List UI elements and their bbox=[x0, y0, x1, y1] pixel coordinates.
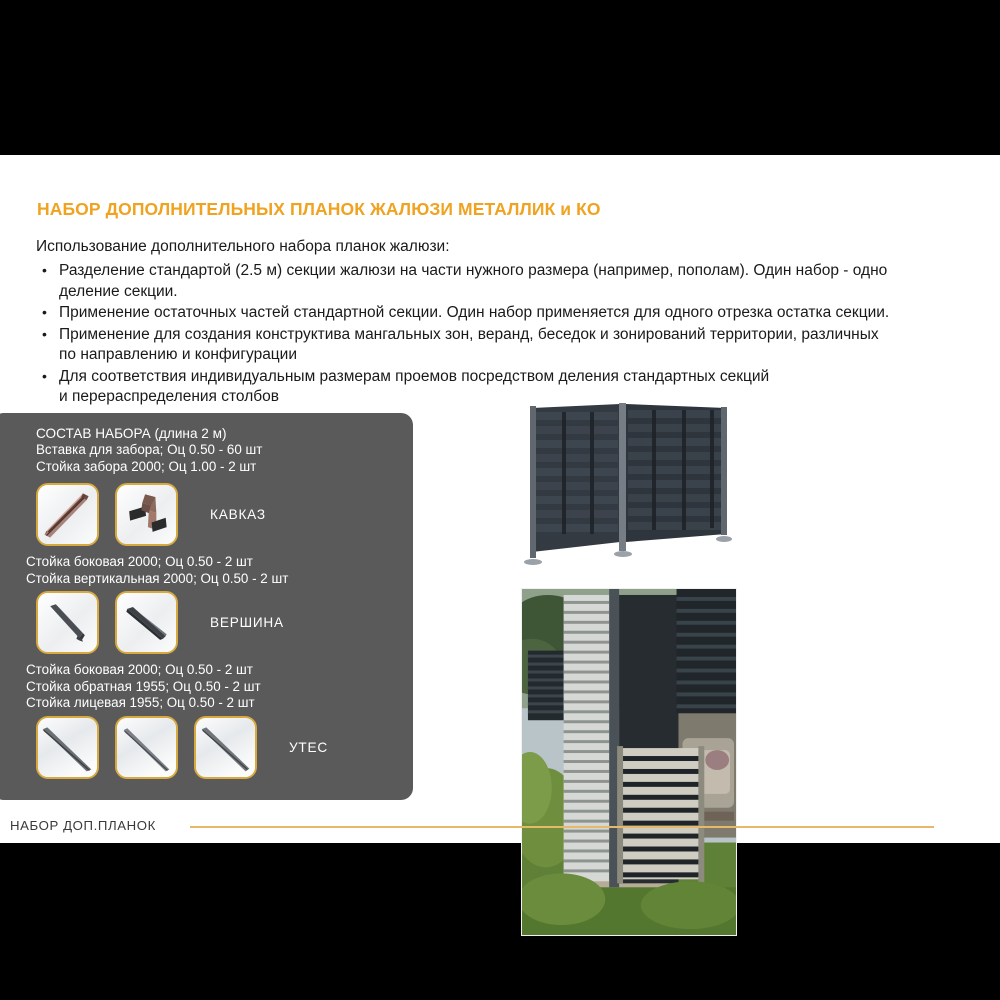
product-thumb-kavkaz-bracket-icon[interactable] bbox=[115, 483, 178, 546]
product-thumb-vershina-blade-icon[interactable] bbox=[115, 591, 178, 654]
group-label-utes: УТЕС bbox=[289, 740, 328, 755]
bullet-line-2: по направлению и конфигурации bbox=[59, 345, 971, 366]
list-item: Применение для создания конструктива ман… bbox=[36, 325, 971, 366]
product-thumb-kavkaz-bar-icon[interactable] bbox=[36, 483, 99, 546]
list-item: Применение остаточных частей стандартной… bbox=[36, 303, 971, 324]
spec-line: Стойка боковая 2000; Оц 0.50 - 2 шт bbox=[26, 554, 406, 571]
letterbox-top-bar bbox=[0, 0, 1000, 155]
spec-heading-block: СОСТАВ НАБОРА (длина 2 м) Вставка для за… bbox=[36, 425, 406, 475]
letterbox-bottom-bar bbox=[0, 843, 1000, 1000]
spec-heading-line: Стойка забора 2000; Оц 1.00 - 2 шт bbox=[36, 459, 406, 476]
bullet-line-1: Для соответствия индивидуальным размерам… bbox=[59, 368, 769, 385]
thumb-row-vershina: ВЕРШИНА bbox=[36, 591, 284, 654]
spec-lines-vershina: Стойка боковая 2000; Оц 0.50 - 2 шт Стой… bbox=[26, 662, 406, 712]
group-label-kavkaz: КАВКАЗ bbox=[210, 507, 266, 522]
product-thumb-vershina-post-icon[interactable] bbox=[36, 591, 99, 654]
bullet-line-1: Разделение стандартой (2.5 м) секции жал… bbox=[59, 262, 887, 279]
product-thumb-utes-3-icon[interactable] bbox=[194, 716, 257, 779]
intro-text: Использование дополнительного набора пла… bbox=[36, 238, 450, 256]
list-item: Для соответствия индивидуальным размерам… bbox=[36, 367, 971, 408]
spec-lines-kavkaz: Стойка боковая 2000; Оц 0.50 - 2 шт Стой… bbox=[26, 554, 406, 587]
product-thumb-utes-2-icon[interactable] bbox=[115, 716, 178, 779]
thumb-row-utes: УТЕС bbox=[36, 716, 328, 779]
spec-heading: СОСТАВ НАБОРА (длина 2 м) bbox=[36, 425, 406, 442]
list-item: Разделение стандартой (2.5 м) секции жал… bbox=[36, 261, 971, 302]
bullet-list: Разделение стандартой (2.5 м) секции жал… bbox=[36, 261, 971, 409]
spec-heading-line: Вставка для забора; Оц 0.50 - 60 шт bbox=[36, 442, 406, 459]
footer-rule bbox=[190, 826, 934, 828]
spec-line: Стойка обратная 1955; Оц 0.50 - 2 шт bbox=[26, 679, 406, 696]
spec-line: Стойка боковая 2000; Оц 0.50 - 2 шт bbox=[26, 662, 406, 679]
bullet-line-1: Применение остаточных частей стандартной… bbox=[59, 304, 889, 321]
thumb-row-kavkaz: КАВКАЗ bbox=[36, 483, 266, 546]
bullet-line-2: и перераспределения столбов bbox=[59, 387, 971, 408]
product-image-garden-screen bbox=[521, 588, 737, 936]
spec-panel: СОСТАВ НАБОРА (длина 2 м) Вставка для за… bbox=[0, 413, 413, 800]
spec-line: Стойка лицевая 1955; Оц 0.50 - 2 шт bbox=[26, 695, 406, 712]
product-image-dark-fence bbox=[516, 394, 741, 584]
page-title: НАБОР ДОПОЛНИТЕЛЬНЫХ ПЛАНОК ЖАЛЮЗИ МЕТАЛ… bbox=[37, 199, 937, 220]
group-label-vershina: ВЕРШИНА bbox=[210, 615, 284, 630]
bullet-line-1: Применение для создания конструктива ман… bbox=[59, 326, 879, 343]
spec-line: Стойка вертикальная 2000; Оц 0.50 - 2 шт bbox=[26, 571, 406, 588]
slide-root: НАБОР ДОПОЛНИТЕЛЬНЫХ ПЛАНОК ЖАЛЮЗИ МЕТАЛ… bbox=[0, 0, 1000, 1000]
bullet-line-2: деление секции. bbox=[59, 282, 971, 303]
footer-label: НАБОР ДОП.ПЛАНОК bbox=[10, 818, 156, 833]
product-thumb-utes-1-icon[interactable] bbox=[36, 716, 99, 779]
slide-canvas: НАБОР ДОПОЛНИТЕЛЬНЫХ ПЛАНОК ЖАЛЮЗИ МЕТАЛ… bbox=[0, 155, 1000, 843]
